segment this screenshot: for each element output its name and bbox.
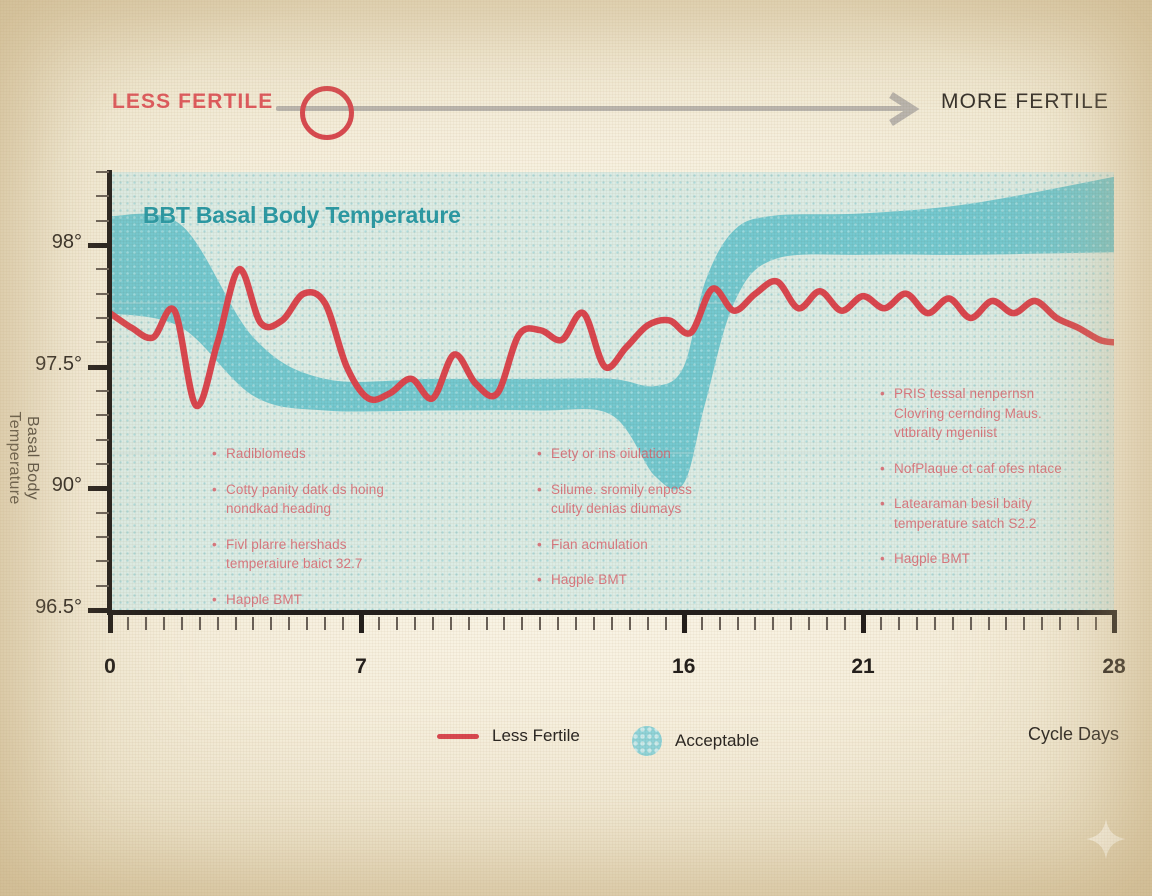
y-tick-minor: [96, 585, 109, 587]
x-tick-minor: [772, 617, 774, 630]
y-tick-minor: [96, 512, 109, 514]
x-tick-minor: [1077, 617, 1079, 630]
x-tick-minor: [808, 617, 810, 630]
x-tick-minor: [145, 617, 147, 630]
annotation-column-middle: Eety or ins oiulationSilume. sromily enp…: [537, 444, 726, 606]
x-tick-minor: [754, 617, 756, 630]
y-tick-minor: [96, 220, 109, 222]
legend-dot-swatch: [632, 726, 662, 756]
x-tick-label: 16: [672, 655, 695, 679]
x-axis-title: Cycle Days: [1028, 724, 1119, 745]
y-tick-minor: [96, 439, 109, 441]
y-tick-minor: [96, 536, 109, 538]
y-tick-label: 98°: [2, 231, 82, 254]
x-tick-minor: [647, 617, 649, 630]
y-tick-minor: [96, 560, 109, 562]
annotation-item: Fivl plarre hershads temperaiure baict 3…: [212, 535, 401, 574]
x-tick-label: 7: [355, 655, 367, 679]
x-tick-minor: [916, 617, 918, 630]
annotation-item: Latearaman besil baity temperature satch…: [880, 494, 1069, 533]
x-tick-minor: [539, 617, 541, 630]
annotation-item: Eety or ins oiulation: [537, 444, 726, 464]
x-tick-minor: [665, 617, 667, 630]
x-tick-minor: [1095, 617, 1097, 630]
x-tick-minor: [790, 617, 792, 630]
x-tick-major: [1112, 610, 1117, 633]
sparkle-icon: [1085, 818, 1127, 860]
x-tick-minor: [486, 617, 488, 630]
annotation-item: PRIS tessal nenpernsn Clovring cernding …: [880, 384, 1069, 443]
annotation-item: NofPlaque ct caf ofes ntace: [880, 459, 1069, 479]
x-tick-minor: [1059, 617, 1061, 630]
x-tick-minor: [719, 617, 721, 630]
x-tick-major: [108, 610, 113, 633]
x-tick-minor: [970, 617, 972, 630]
x-tick-minor: [952, 617, 954, 630]
x-tick-minor: [503, 617, 505, 630]
y-tick-label: 96.5°: [2, 596, 82, 619]
legend-line-swatch: [437, 734, 479, 739]
annotation-item: Fian acmulation: [537, 535, 726, 555]
annotation-item: Happle BMT: [212, 590, 401, 610]
annotation-column-right: PRIS tessal nenpernsn Clovring cernding …: [880, 384, 1069, 585]
x-tick-minor: [181, 617, 183, 630]
x-tick-minor: [163, 617, 165, 630]
x-tick-minor: [557, 617, 559, 630]
annotation-item: Radiblomeds: [212, 444, 401, 464]
x-tick-major: [861, 610, 866, 633]
x-tick-minor: [432, 617, 434, 630]
y-tick-minor: [96, 171, 109, 173]
y-tick-major: [88, 608, 109, 613]
y-tick-minor: [96, 268, 109, 270]
annotation-column-left: RadiblomedsCotty panity datk ds hoing no…: [212, 444, 401, 625]
x-tick-label: 0: [104, 655, 116, 679]
x-tick-minor: [1023, 617, 1025, 630]
x-tick-minor: [450, 617, 452, 630]
x-tick-major: [682, 610, 687, 633]
annotation-item: Silume. sromily enposs culity denias diu…: [537, 480, 726, 519]
y-tick-minor: [96, 390, 109, 392]
x-tick-minor: [611, 617, 613, 630]
y-axis-title: Basal Body Temperature: [5, 383, 41, 533]
legend-item-less-fertile[interactable]: Less Fertile: [437, 726, 580, 746]
x-tick-label: 21: [851, 655, 874, 679]
chart-page: LESS FERTILE MORE FERTILE: [0, 0, 1152, 896]
chart-title: BBT Basal Body Temperature: [143, 202, 461, 229]
y-tick-minor: [96, 317, 109, 319]
x-tick-minor: [934, 617, 936, 630]
x-tick-minor: [844, 617, 846, 630]
x-tick-minor: [575, 617, 577, 630]
x-tick-minor: [898, 617, 900, 630]
y-tick-major: [88, 365, 109, 370]
y-tick-minor: [96, 463, 109, 465]
x-tick-minor: [199, 617, 201, 630]
legend-item-acceptable[interactable]: Acceptable: [632, 726, 759, 756]
x-tick-minor: [737, 617, 739, 630]
legend-label: Acceptable: [675, 731, 759, 751]
x-tick-minor: [414, 617, 416, 630]
annotation-item: Cotty panity datk ds hoing nondkad headi…: [212, 480, 401, 519]
annotation-item: Hagple BMT: [880, 549, 1069, 569]
y-tick-major: [88, 243, 109, 248]
x-tick-minor: [1005, 617, 1007, 630]
x-tick-minor: [629, 617, 631, 630]
y-tick-minor: [96, 414, 109, 416]
y-axis: [107, 170, 112, 614]
y-tick-label: 97.5°: [2, 353, 82, 376]
x-tick-minor: [127, 617, 129, 630]
x-tick-minor: [880, 617, 882, 630]
x-tick-label: 28: [1102, 655, 1125, 679]
y-tick-minor: [96, 341, 109, 343]
x-tick-minor: [701, 617, 703, 630]
annotation-item: Hagple BMT: [537, 570, 726, 590]
x-tick-minor: [468, 617, 470, 630]
y-tick-major: [88, 486, 109, 491]
legend-label: Less Fertile: [492, 726, 580, 746]
x-tick-minor: [521, 617, 523, 630]
x-tick-minor: [988, 617, 990, 630]
bbt-chart: BBT Basal Body Temperature 96.5°90°97.5°…: [0, 0, 1152, 896]
x-tick-minor: [826, 617, 828, 630]
x-tick-minor: [593, 617, 595, 630]
x-tick-minor: [1041, 617, 1043, 630]
y-tick-minor: [96, 293, 109, 295]
chart-legend: Less Fertile Acceptable: [437, 726, 777, 756]
y-tick-minor: [96, 195, 109, 197]
